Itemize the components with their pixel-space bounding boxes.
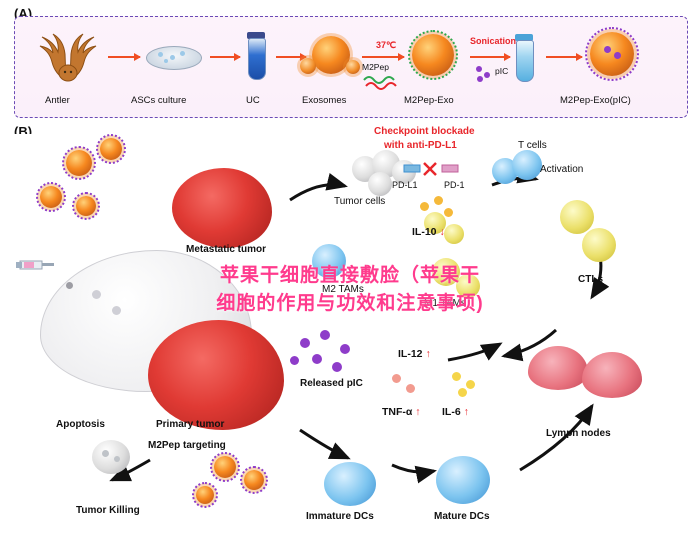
- t-cells-label: T cells: [518, 140, 547, 151]
- m1-tam-cell-4: [444, 224, 464, 244]
- pic-dot-2: [484, 72, 490, 78]
- checkpoint-label-line2: with anti-PD-L1: [384, 140, 457, 151]
- watermark-line-1: 苹果干细胞直接敷脸（苹果干: [140, 262, 560, 290]
- arrow-antler-to-culture: [108, 56, 140, 58]
- panel-a-caption-culture: ASCs culture: [131, 95, 186, 106]
- cytokine-il10-change: ↓: [439, 226, 444, 238]
- arrow-exosomes-to-m2pep-exo: [362, 56, 404, 58]
- apoptosis-label: Apoptosis: [56, 419, 105, 430]
- watermark-line-2: 细胞的作用与功效和注意事项): [140, 290, 560, 318]
- pic-dot-1: [476, 66, 482, 72]
- primary-tumor-mass: [148, 320, 284, 430]
- tumor-cells-label: Tumor cells: [334, 196, 385, 207]
- cytokine-tnfa-change: ↑: [415, 406, 420, 418]
- watermark-text: 苹果干细胞直接敷脸（苹果干 细胞的作用与功效和注意事项): [140, 262, 560, 318]
- temperature-annotation: 37℃: [376, 40, 396, 51]
- cytokine-il12: IL-12 ↑: [398, 348, 431, 360]
- ctls-label: CTLs: [578, 274, 603, 285]
- mouse-spot-2: [112, 306, 121, 315]
- primary-tumor-label: Primary tumor: [156, 419, 224, 430]
- panel-a-caption-m2pep-exo: M2Pep-Exo: [404, 95, 454, 106]
- arrow-sonication-to-final: [546, 56, 582, 58]
- arrow-culture-to-uc: [210, 56, 240, 58]
- immature-dc-cell: [324, 462, 376, 506]
- mature-dcs-label: Mature DCs: [434, 511, 490, 522]
- panel-a-caption-final: M2Pep-Exo(pIC): [560, 95, 631, 106]
- mature-dc-cell: [436, 456, 490, 504]
- mouse-spot-1: [92, 290, 101, 299]
- cytokine-il10-text: IL-10: [412, 226, 437, 238]
- cytokine-il12-text: IL-12: [398, 348, 423, 360]
- pd1-label: PD-1: [444, 180, 465, 190]
- panel-a-caption-exosomes: Exosomes: [302, 95, 346, 106]
- metastatic-tumor-mass: [172, 168, 272, 248]
- sonication-annotation: Sonication: [470, 36, 516, 46]
- cytokine-tnfa-text: TNF-α: [382, 406, 412, 418]
- lymph-node-1: [528, 346, 588, 390]
- m2pep-annotation: M2Pep: [362, 62, 389, 72]
- lymph-nodes-label: Lymph nodes: [546, 428, 611, 439]
- checkpoint-label-line1: Checkpoint blockade: [374, 126, 475, 137]
- antler-illustration: [32, 30, 104, 82]
- tumor-killing-label: Tumor Killing: [76, 505, 140, 516]
- released-pic-label: Released pIC: [300, 378, 363, 389]
- cytokine-tnfa: TNF-α ↑: [382, 406, 421, 418]
- panel-a-caption-antler: Antler: [45, 95, 70, 106]
- activation-label: Activation: [540, 164, 583, 175]
- m2pep-targeting-label: M2Pep targeting: [148, 440, 226, 451]
- pic-annotation: pIC: [495, 66, 508, 76]
- immature-dcs-label: Immature DCs: [306, 511, 374, 522]
- pic-dot-3: [477, 76, 483, 82]
- cytokine-il12-change: ↑: [425, 348, 430, 360]
- pdl1-label: PD-L1: [392, 180, 418, 190]
- cytokine-il6-text: IL-6: [442, 406, 461, 418]
- mouse-eye: [66, 282, 73, 289]
- lymph-node-2: [582, 352, 642, 398]
- syringe-icon: [16, 252, 56, 283]
- cytokine-il6: IL-6 ↑: [442, 406, 469, 418]
- panel-a-caption-uc: UC: [246, 95, 260, 106]
- cytokine-il6-change: ↑: [464, 406, 469, 418]
- arrow-m2pep-exo-to-pic: [470, 56, 510, 58]
- metastatic-tumor-label: Metastatic tumor: [186, 244, 266, 255]
- arrow-uc-to-exosomes: [276, 56, 306, 58]
- cytokine-il10: IL-10 ↓: [412, 226, 445, 238]
